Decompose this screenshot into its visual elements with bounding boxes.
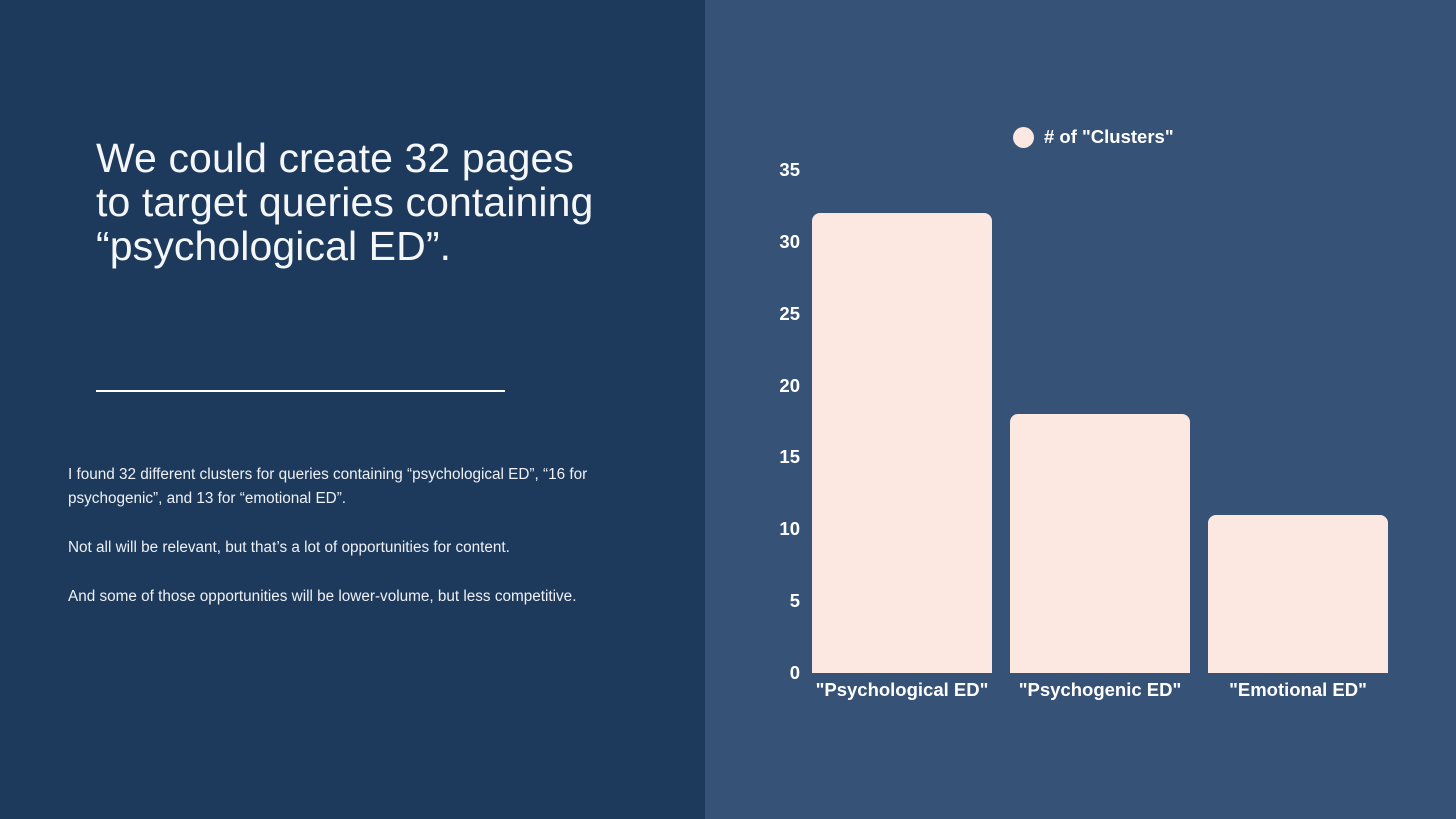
plot-area: 05101520253035 bbox=[812, 170, 1412, 673]
y-axis-tick: 5 bbox=[790, 590, 800, 612]
bar-slot bbox=[1010, 170, 1190, 673]
bar-slot bbox=[812, 170, 992, 673]
left-panel: We could create 32 pages to target queri… bbox=[0, 0, 705, 819]
slide: We could create 32 pages to target queri… bbox=[0, 0, 1456, 819]
y-axis-tick: 0 bbox=[790, 662, 800, 684]
y-axis-tick: 20 bbox=[779, 375, 800, 397]
body-text-block: I found 32 different clusters for querie… bbox=[68, 463, 596, 609]
y-axis-tick: 35 bbox=[779, 159, 800, 181]
body-paragraph-3: And some of those opportunities will be … bbox=[68, 585, 596, 609]
body-paragraph-2: Not all will be relevant, but that’s a l… bbox=[68, 536, 596, 560]
x-axis-labels: "Psychological ED""Psychogenic ED""Emoti… bbox=[812, 679, 1412, 701]
y-axis-tick: 15 bbox=[779, 446, 800, 468]
legend-circle-icon bbox=[1013, 127, 1034, 148]
bar[interactable] bbox=[1208, 515, 1388, 673]
x-axis-label: "Emotional ED" bbox=[1208, 679, 1388, 701]
x-axis-label: "Psychogenic ED" bbox=[1010, 679, 1190, 701]
title-divider bbox=[96, 390, 505, 392]
bar-group bbox=[812, 170, 1412, 673]
bar-chart: # of "Clusters" 05101520253035 "Psycholo… bbox=[705, 0, 1456, 819]
y-axis-tick: 25 bbox=[779, 303, 800, 325]
page-title: We could create 32 pages to target queri… bbox=[96, 136, 616, 268]
y-axis-tick: 30 bbox=[779, 231, 800, 253]
bar-slot bbox=[1208, 170, 1388, 673]
bar[interactable] bbox=[1010, 414, 1190, 673]
bar[interactable] bbox=[812, 213, 992, 673]
x-axis-label: "Psychological ED" bbox=[812, 679, 992, 701]
y-axis-tick: 10 bbox=[779, 518, 800, 540]
legend-label-clusters: # of "Clusters" bbox=[1044, 126, 1174, 148]
chart-legend: # of "Clusters" bbox=[1013, 126, 1174, 148]
body-paragraph-1: I found 32 different clusters for querie… bbox=[68, 463, 596, 511]
